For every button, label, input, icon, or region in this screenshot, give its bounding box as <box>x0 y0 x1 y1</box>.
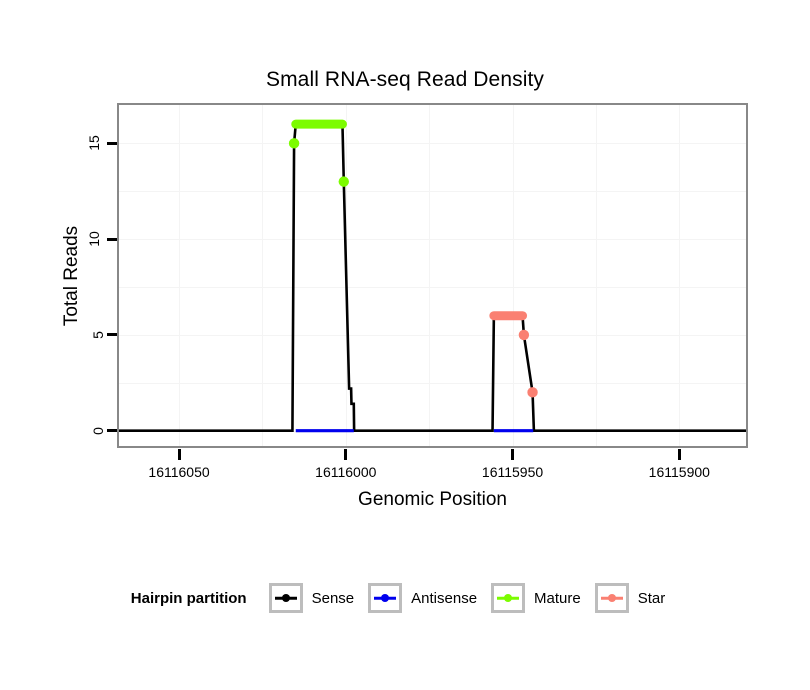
x-axis-title: Genomic Position <box>117 489 748 511</box>
legend-label: Mature <box>534 590 581 607</box>
legend-key-dot <box>381 594 389 602</box>
x-tick-label: 16115950 <box>482 464 543 480</box>
legend-label: Star <box>638 590 666 607</box>
chart-title: Small RNA-seq Read Density <box>0 68 810 92</box>
legend-label: Antisense <box>411 590 477 607</box>
x-tick-mark <box>511 449 514 460</box>
y-tick-mark <box>107 333 117 336</box>
y-tick-label-wrap: 15 <box>70 132 102 154</box>
y-tick-label: 15 <box>86 136 102 152</box>
y-tick-label-wrap: 10 <box>70 228 102 250</box>
y-tick-mark <box>107 238 117 241</box>
y-tick-label: 5 <box>90 331 106 339</box>
y-tick-label-wrap: 5 <box>70 324 102 346</box>
legend-key-dot <box>282 594 290 602</box>
series-layer <box>119 105 746 446</box>
legend-key-antisense <box>368 583 402 613</box>
series-marker-star <box>519 330 529 340</box>
series-marker-mature <box>339 176 349 186</box>
x-tick-label: 16116050 <box>148 464 209 480</box>
legend-entry-mature[interactable]: Mature <box>491 583 581 613</box>
y-tick-mark <box>107 429 117 432</box>
legend: Hairpin partition SenseAntisenseMatureSt… <box>0 583 810 613</box>
y-axis-title: Total Reads <box>22 103 122 448</box>
x-tick-label: 16116000 <box>315 464 376 480</box>
legend-entry-antisense[interactable]: Antisense <box>368 583 477 613</box>
series-marker-mature <box>289 138 299 148</box>
legend-entries: SenseAntisenseMatureStar <box>269 583 680 613</box>
legend-label: Sense <box>312 590 355 607</box>
x-tick-mark <box>344 449 347 460</box>
legend-key-dot <box>504 594 512 602</box>
chart-root: Small RNA-seq Read Density Total Reads 0… <box>0 0 810 690</box>
series-line-sense <box>119 124 746 431</box>
plot-area <box>119 105 746 446</box>
y-tick-label: 0 <box>90 427 106 435</box>
legend-key-dot <box>608 594 616 602</box>
legend-key-mature <box>491 583 525 613</box>
series-marker-star <box>527 387 537 397</box>
y-tick-label-wrap: 0 <box>70 420 102 442</box>
x-tick-mark <box>178 449 181 460</box>
legend-entry-star[interactable]: Star <box>595 583 666 613</box>
legend-key-star <box>595 583 629 613</box>
y-tick-mark <box>107 142 117 145</box>
x-tick-label: 16115900 <box>649 464 710 480</box>
x-tick-mark <box>678 449 681 460</box>
y-tick-label: 10 <box>86 231 102 247</box>
legend-title: Hairpin partition <box>131 590 247 607</box>
legend-key-sense <box>269 583 303 613</box>
legend-entry-sense[interactable]: Sense <box>269 583 355 613</box>
plot-panel <box>117 103 748 448</box>
